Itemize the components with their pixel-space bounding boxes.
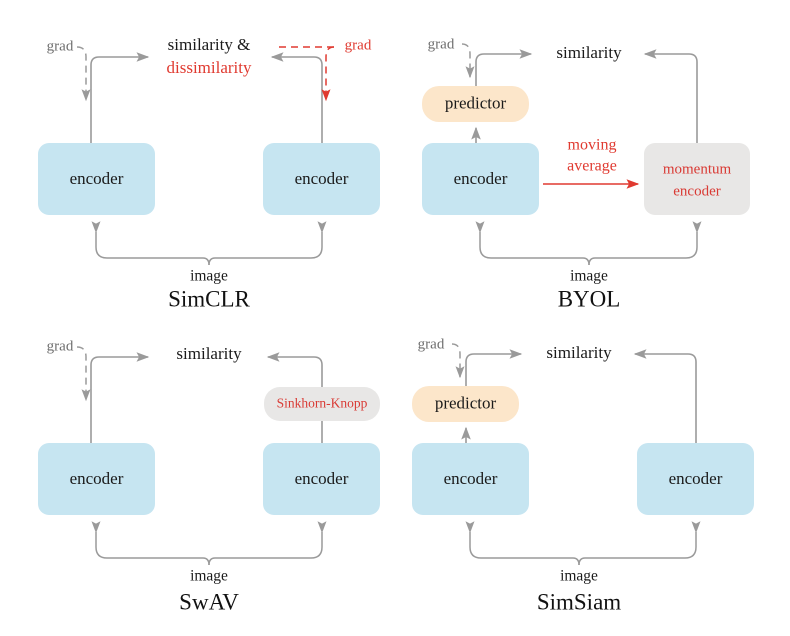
simsiam-left-input-arrow [470,532,579,565]
simsiam-left-encoder-label: encoder [444,469,498,488]
swav-right-input-arrow [209,532,322,565]
panel-simclr: encoder encoder grad grad similarity & d… [38,35,380,311]
swav-grad-label: grad [47,338,74,354]
swav-left-forward-arrow [91,357,148,443]
simclr-left-forward-arrow [91,57,148,143]
simsiam-predictor-label: predictor [435,393,497,412]
simclr-left-grad-arrow [77,47,86,100]
simsiam-right-input-arrow [579,532,696,565]
byol-momentum-to-similarity-arrow [645,54,697,143]
byol-grad-label: grad [428,36,455,52]
simsiam-right-encoder-to-similarity-arrow [635,354,696,443]
byol-title: BYOL [558,286,621,311]
panel-byol: encoder predictor grad similarity moment… [422,36,750,311]
byol-predictor-label: predictor [445,93,507,112]
simclr-right-input-arrow [209,232,322,265]
simsiam-grad-arrow [452,344,460,377]
simclr-left-grad-label: grad [47,38,74,54]
simclr-left-input-arrow [96,232,209,265]
byol-momentum-encoder-box [644,143,750,215]
simsiam-predictor-to-similarity-arrow [466,354,521,386]
swav-left-input-arrow [96,532,209,565]
byol-similarity-label: similarity [556,43,622,62]
swav-sinkhorn-label: Sinkhorn-Knopp [277,396,368,411]
byol-left-input-arrow [480,232,589,265]
byol-predictor-to-similarity-arrow [476,54,531,86]
simclr-right-grad-down-arrow [326,47,334,100]
panel-swav: encoder encoder grad similarity Sinkhorn… [38,338,380,614]
byol-input-label: image [570,268,608,285]
figure-canvas: encoder encoder grad grad similarity & d… [0,0,790,636]
simsiam-similarity-label: similarity [546,343,612,362]
simclr-title: SimCLR [168,286,250,311]
byol-left-encoder-label: encoder [454,169,508,188]
swav-right-encoder-label: encoder [295,469,349,488]
simsiam-grad-label: grad [418,336,445,352]
byol-momentum-line1: momentum [663,161,732,177]
byol-grad-arrow [462,44,470,77]
swav-grad-arrow [77,347,86,400]
simsiam-input-label: image [560,568,598,585]
simclr-right-grad-label: grad [345,37,372,53]
byol-moving-average-line2: average [567,158,617,175]
simclr-right-forward-arrow [272,57,322,143]
byol-moving-average-line1: moving [568,137,617,154]
simclr-objective-line1: similarity & [168,35,251,54]
swav-title: SwAV [179,589,239,614]
swav-input-label: image [190,568,228,585]
byol-right-input-arrow [589,232,697,265]
simclr-left-encoder-label: encoder [70,169,124,188]
simsiam-right-encoder-label: encoder [669,469,723,488]
simclr-right-encoder-label: encoder [295,169,349,188]
byol-momentum-line2: encoder [673,183,720,199]
swav-similarity-label: similarity [176,344,242,363]
simclr-objective-line2: dissimilarity [167,58,253,77]
swav-left-encoder-label: encoder [70,469,124,488]
simclr-input-label: image [190,268,228,285]
diagram-svg: encoder encoder grad grad similarity & d… [0,0,790,636]
swav-sinkhorn-to-similarity-arrow [268,357,322,387]
simsiam-title: SimSiam [537,589,621,614]
panel-simsiam: encoder encoder predictor grad similarit… [412,336,754,614]
